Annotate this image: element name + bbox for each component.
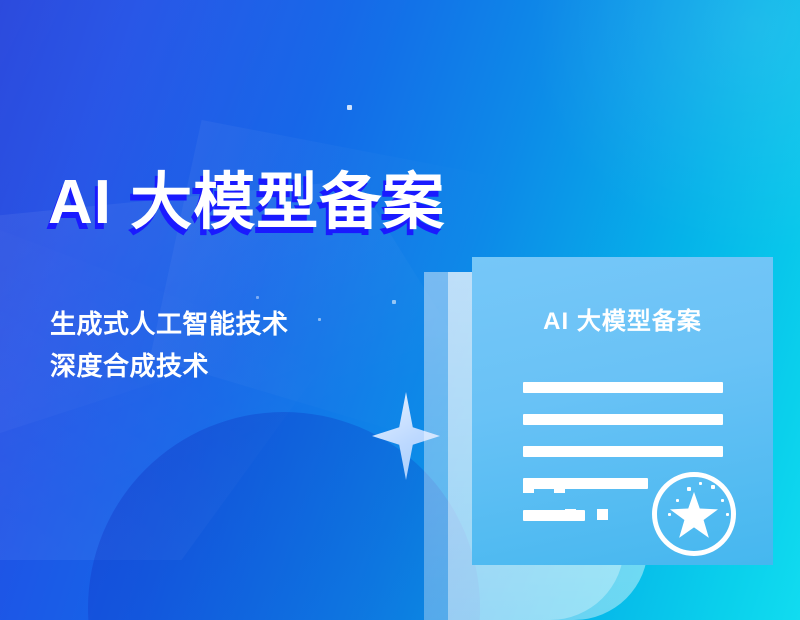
document-line-3 xyxy=(523,446,723,457)
badge-dot-6 xyxy=(726,513,729,516)
document-line-4 xyxy=(523,478,648,489)
document-card-front: AI 大模型备案 xyxy=(472,257,773,565)
badge-dot-1 xyxy=(687,487,691,491)
badge-dot-4 xyxy=(721,499,724,502)
document-line-2 xyxy=(523,414,723,425)
document-square-4 xyxy=(597,509,608,520)
badge-dot-3 xyxy=(676,499,679,502)
document-card-title: AI 大模型备案 xyxy=(472,301,773,336)
document-square-1 xyxy=(523,482,534,493)
document-card-stack: AI 大模型备案 xyxy=(0,0,800,620)
star-badge-icon xyxy=(652,472,736,556)
badge-dot-5 xyxy=(668,513,671,516)
document-square-3 xyxy=(565,509,576,520)
document-square-2 xyxy=(554,482,565,493)
badge-dot-7 xyxy=(699,482,702,485)
promo-banner: AI 大模型备案 生成式人工智能技术 深度合成技术 AI 大模型备案 xyxy=(0,0,800,620)
badge-dot-2 xyxy=(711,485,715,489)
document-line-1 xyxy=(523,382,723,393)
